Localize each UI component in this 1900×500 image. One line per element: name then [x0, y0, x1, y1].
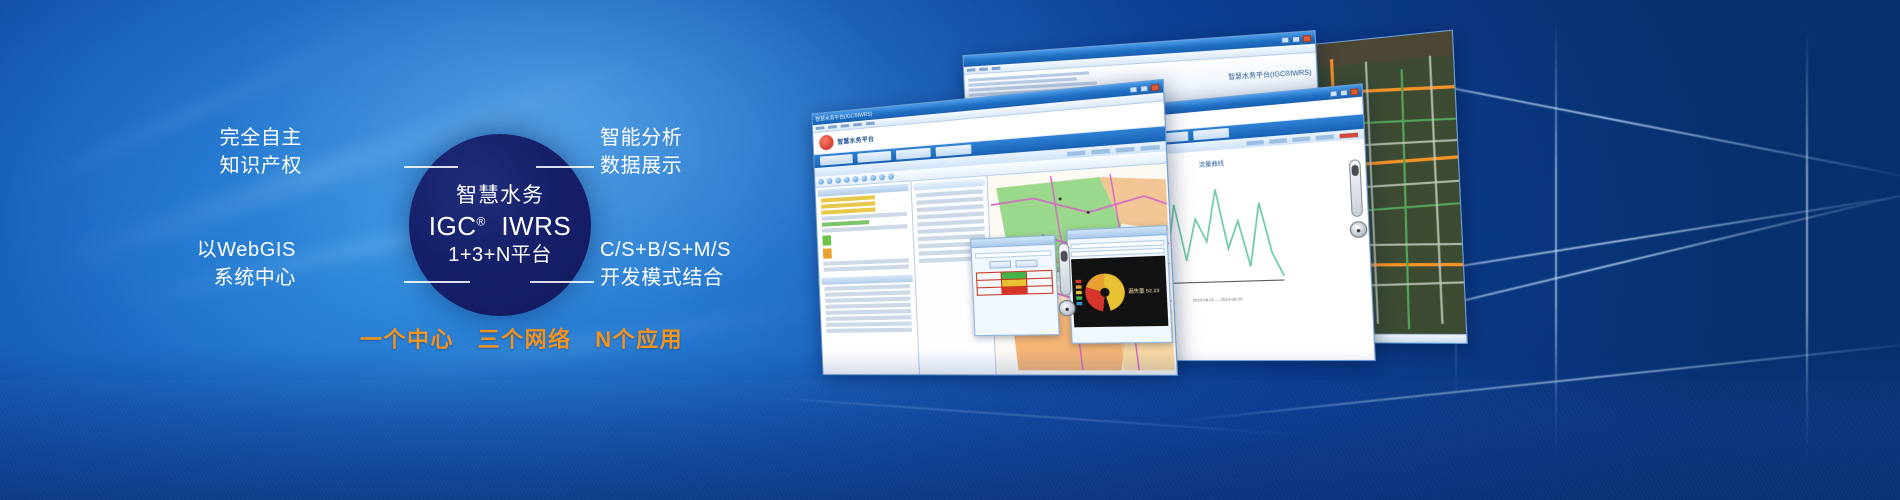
banner-stage: 智慧水务平台(IGC®IWRS)	[0, 0, 1900, 500]
dialog-buttons[interactable]	[975, 259, 1052, 269]
feature-label-bottom-left: 以WebGIS 系统中心	[197, 236, 296, 293]
connector-line-top-left	[404, 166, 458, 168]
window-controls[interactable]	[1129, 83, 1159, 93]
water-balance-pie	[1084, 273, 1125, 312]
feature-label-top-right: 智能分析 数据展示	[600, 124, 682, 181]
hub-platform: 1+3+N平台	[448, 244, 552, 266]
feature-line-1: 以WebGIS	[197, 236, 296, 264]
layer-tree-panel[interactable]	[816, 181, 921, 374]
floor-texture	[0, 380, 1900, 500]
map-pan-navigator[interactable]	[1349, 221, 1367, 238]
feature-label-top-left: 完全自主 知识产权	[220, 124, 302, 181]
dialog-water-balance[interactable]: 漏失量 52.23	[1066, 225, 1173, 344]
status-table	[976, 270, 1054, 296]
window-controls[interactable]	[1329, 88, 1358, 97]
light-streak	[15, 8, 414, 198]
dialog-pipe-analysis[interactable]	[970, 235, 1060, 336]
tagline-part-1: 一个中心	[360, 327, 454, 352]
map-zoom-slider[interactable]	[1349, 159, 1363, 217]
registered-mark-icon: ®	[477, 214, 486, 228]
window-controls[interactable]	[1281, 34, 1311, 43]
hub-product-line: IGC® IWRS	[429, 213, 571, 240]
tagline-part-2: 三个网络	[478, 327, 572, 352]
pie-chart-panel: 漏失量 52.23	[1071, 256, 1168, 328]
tagline-part-3: N个应用	[595, 327, 683, 352]
feature-line-2: 知识产权	[220, 152, 302, 180]
hub-product-suffix: IWRS	[501, 211, 571, 241]
hub-circle: 智慧水务 IGC® IWRS 1+3+N平台	[409, 134, 591, 316]
map-zoom-slider[interactable]	[1058, 243, 1072, 296]
hub-product: IGC	[429, 211, 477, 241]
window-gis-desktop[interactable]: 智慧水务平台(IGC®IWRS) 智慧水务平台	[811, 79, 1178, 376]
feature-line-2: 系统中心	[197, 264, 296, 292]
pie-metric-label: 漏失量 52.23	[1128, 288, 1159, 296]
pie-legend	[1075, 279, 1082, 307]
feature-line-2: 数据展示	[600, 152, 682, 180]
hub-title: 智慧水务	[456, 184, 544, 207]
feature-line-1: 智能分析	[600, 124, 682, 152]
tagline: 一个中心 三个网络 N个应用	[360, 322, 683, 354]
feature-line-2: 开发模式结合	[600, 264, 731, 292]
connector-line-bottom-right	[530, 281, 594, 283]
water-drop-logo	[819, 134, 834, 150]
feature-line-1: 完全自主	[220, 124, 302, 152]
connector-line-top-right	[536, 166, 594, 168]
map-pan-navigator[interactable]	[1058, 300, 1076, 317]
feature-label-bottom-right: C/S+B/S+M/S 开发模式结合	[600, 236, 731, 293]
screenshot-stack: 智慧水务平台(IGC®IWRS)	[795, 55, 1495, 385]
connector-line-bottom-left	[404, 281, 470, 283]
feature-line-1: C/S+B/S+M/S	[600, 236, 731, 264]
brand-label: 智慧水务平台	[837, 134, 874, 146]
